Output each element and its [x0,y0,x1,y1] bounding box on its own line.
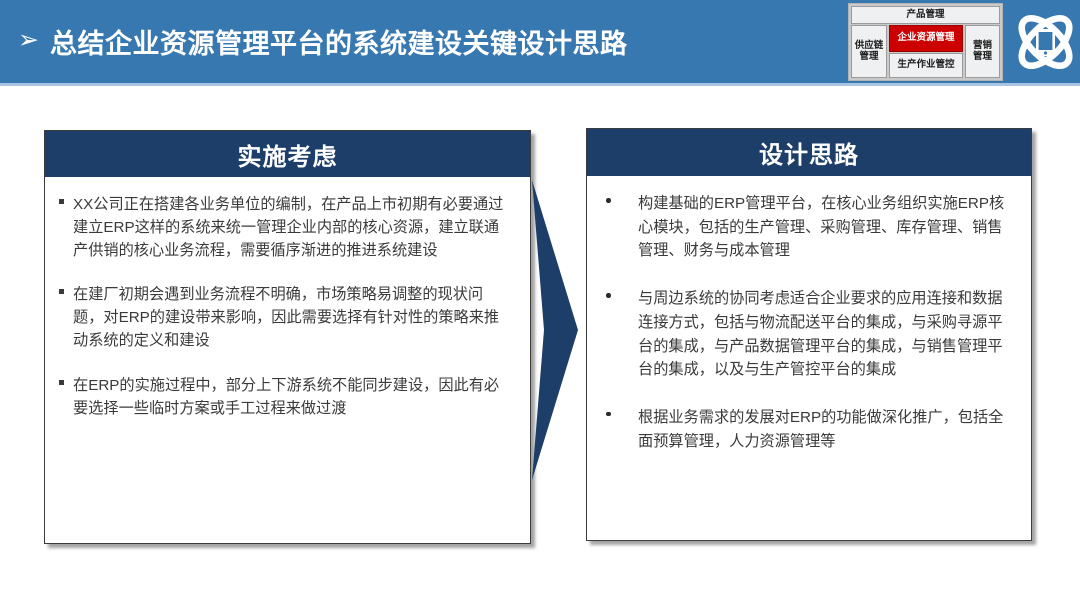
list-item-text: XX公司正在搭建各业务单位的编制，在产品上市初期有必要通过建立ERP这样的系统来… [73,193,512,262]
square-bullet-icon [59,283,73,352]
platform-architecture-diagram: 产品管理 供应链 管理 企业资源管理 生产作业管控 营销 管理 [848,3,1003,81]
list-item-text: 根据业务需求的发展对ERP的功能做深化推广，包括全面预算管理，人力资源管理等 [638,406,1013,453]
header-title-group: ➢ 总结企业资源管理平台的系统建设关键设计思路 [18,0,627,83]
diagram-cell-marketing-line1: 营销 [973,41,992,52]
diagram-cell-marketing-line2: 管理 [973,52,992,63]
header-underline [0,83,1080,86]
logo-area: 产品管理 供应链 管理 企业资源管理 生产作业管控 营销 管理 [848,3,1080,83]
diagram-cell-erp-highlight: 企业资源管理 [889,25,963,52]
list-item: XX公司正在搭建各业务单位的编制，在产品上市初期有必要通过建立ERP这样的系统来… [59,193,512,262]
square-bullet-icon [59,374,73,420]
flow-arrow-right [530,180,578,480]
arrow-bullet-icon: ➢ [18,28,39,53]
round-bullet-icon [601,406,638,453]
diagram-cell-marketing: 营销 管理 [965,25,1000,78]
card-right-body: 构建基础的ERP管理平台，在核心业务组织实施ERP核心模块，包括的生产管理、采购… [587,176,1031,487]
diagram-cell-supply-chain: 供应链 管理 [851,25,887,78]
list-item: 构建基础的ERP管理平台，在核心业务组织实施ERP核心模块，包括的生产管理、采购… [601,192,1013,263]
diagram-cell-supply-chain-line2: 管理 [859,52,878,63]
list-item: 在ERP的实施过程中，部分上下游系统不能同步建设，因此有必要选择一些临时方案或手… [59,374,512,420]
round-bullet-icon [601,192,638,263]
list-item-text: 构建基础的ERP管理平台，在核心业务组织实施ERP核心模块，包括的生产管理、采购… [638,192,1013,263]
card-design-approach: 设计思路 构建基础的ERP管理平台，在核心业务组织实施ERP核心模块，包括的生产… [586,128,1032,541]
list-item: 根据业务需求的发展对ERP的功能做深化推广，包括全面预算管理，人力资源管理等 [601,406,1013,453]
round-bullet-icon [601,287,638,382]
list-item-text: 在ERP的实施过程中，部分上下游系统不能同步建设，因此有必要选择一些临时方案或手… [73,374,512,420]
page-title: 总结企业资源管理平台的系统建设关键设计思路 [50,22,628,61]
card-left-title: 实施考虑 [45,131,530,177]
atom-logo-icon [1011,3,1080,81]
diagram-cell-product-management: 产品管理 [851,6,1000,24]
list-item: 与周边系统的协同考虑适合企业要求的应用连接和数据连接方式，包括与物流配送平台的集… [601,287,1013,382]
card-implementation-considerations: 实施考虑 XX公司正在搭建各业务单位的编制，在产品上市初期有必要通过建立ERP这… [44,130,531,544]
card-right-title: 设计思路 [587,129,1031,176]
diagram-cell-production-control: 生产作业管控 [889,53,963,78]
card-left-body: XX公司正在搭建各业务单位的编制，在产品上市初期有必要通过建立ERP这样的系统来… [45,177,530,451]
list-item-text: 在建厂初期会遇到业务流程不明确，市场策略易调整的现状问题，对ERP的建设带来影响… [73,283,512,352]
list-item-text: 与周边系统的协同考虑适合企业要求的应用连接和数据连接方式，包括与物流配送平台的集… [638,287,1013,382]
list-item: 在建厂初期会遇到业务流程不明确，市场策略易调整的现状问题，对ERP的建设带来影响… [59,283,512,352]
diagram-cell-supply-chain-line1: 供应链 [855,41,884,52]
square-bullet-icon [59,193,73,262]
